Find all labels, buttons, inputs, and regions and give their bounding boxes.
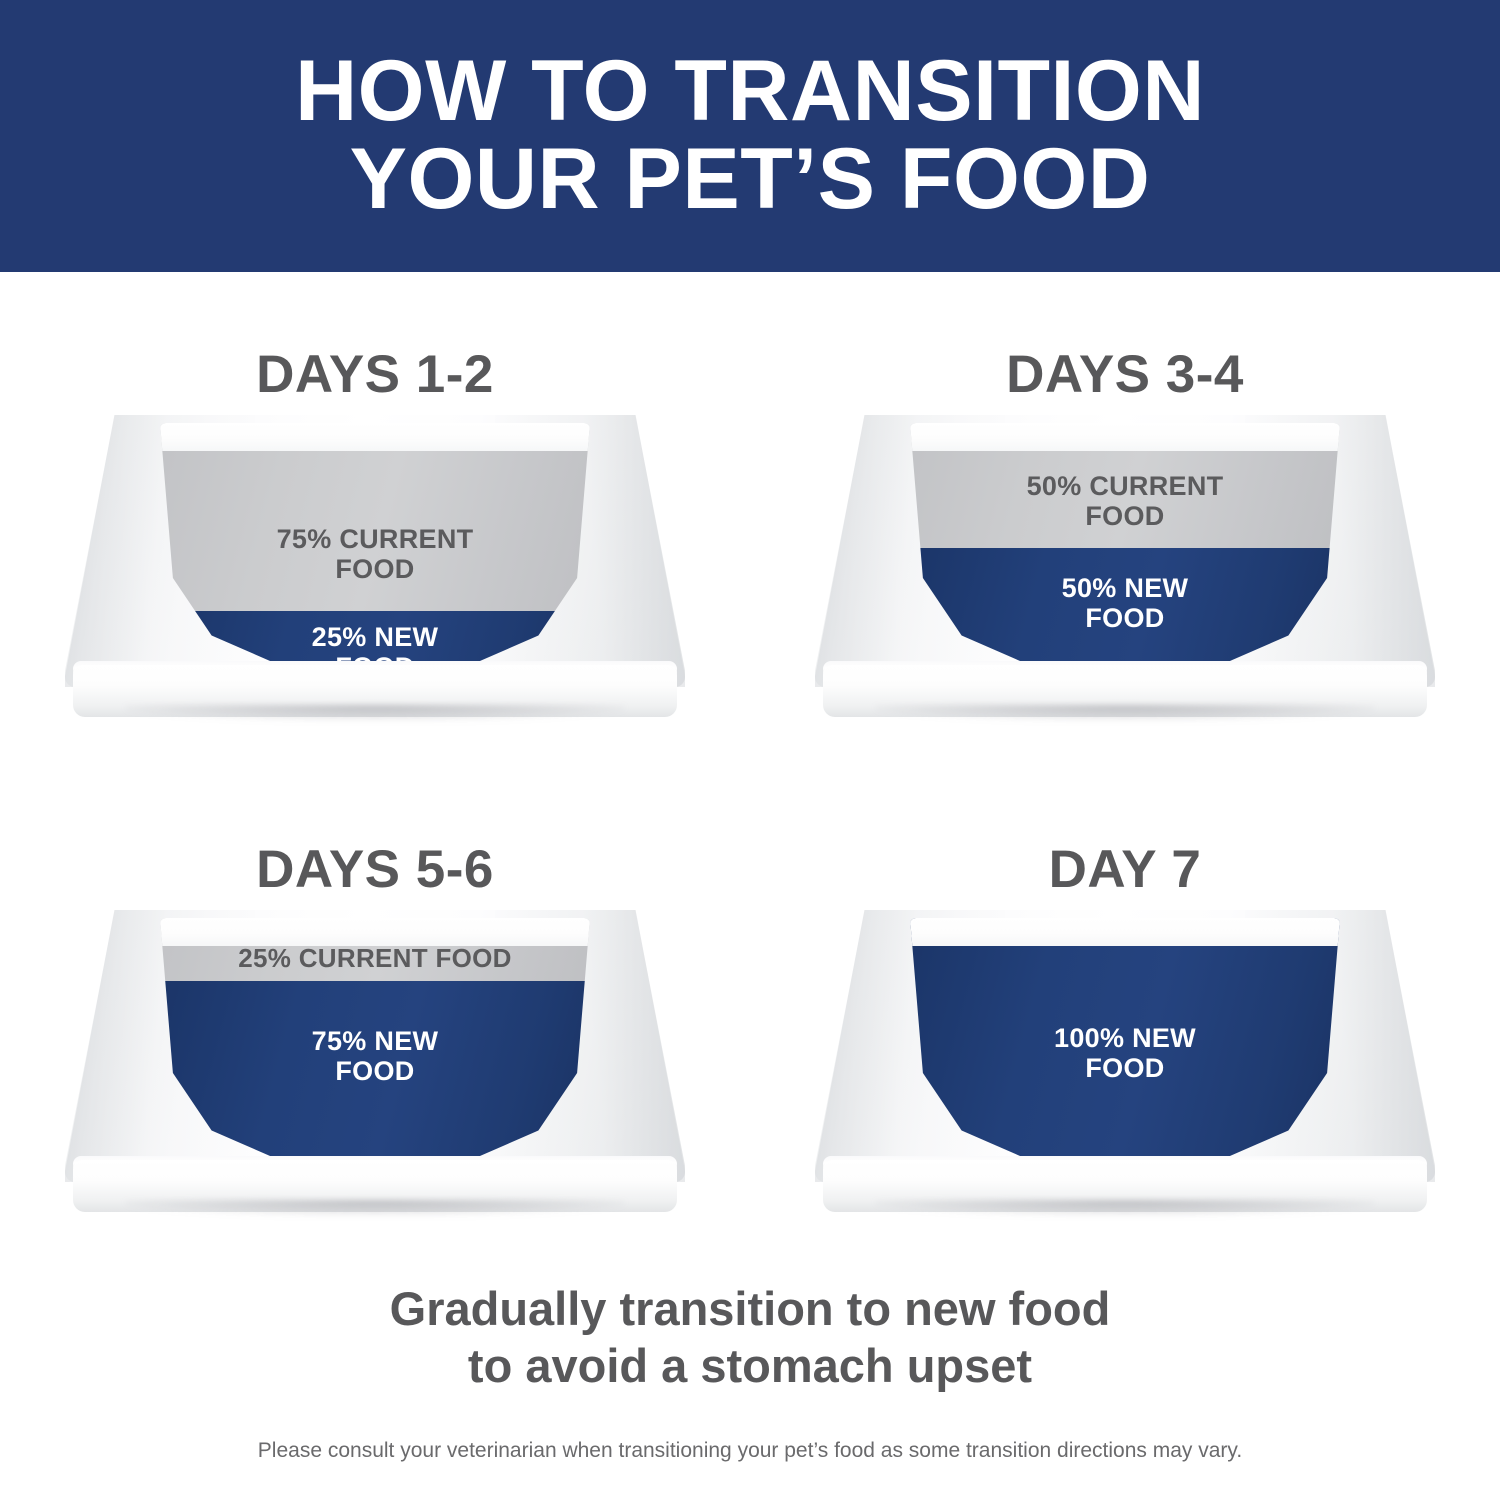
transition-step-card-1: DAYS 1-2 75% CURRENT FOOD 25% NEW FOOD: [0, 272, 750, 767]
bowl-cavity: 100% NEW FOOD: [910, 918, 1340, 1168]
transition-steps-grid: DAYS 1-2 75% CURRENT FOOD 25% NEW FOOD: [0, 272, 1500, 1262]
bowl-drop-shadow: [875, 1200, 1375, 1216]
bowl-drop-shadow: [125, 705, 625, 721]
food-stack: 75% CURRENT FOOD 25% NEW FOOD: [160, 423, 590, 673]
bowl-rim: [910, 423, 1340, 451]
footer-disclaimer: Please consult your veterinarian when tr…: [258, 1439, 1242, 1463]
bowl-cavity: 75% CURRENT FOOD 25% NEW FOOD: [160, 423, 590, 673]
food-stack: 100% NEW FOOD: [910, 918, 1340, 1168]
page-title: HOW TO TRANSITION YOUR PET’S FOOD: [295, 48, 1205, 223]
bowl-drop-shadow: [875, 705, 1375, 721]
new-food-label: 50% NEW FOOD: [910, 573, 1340, 633]
bowl-rim: [910, 918, 1340, 946]
transition-step-card-4: DAY 7 100% NEW FOOD: [750, 767, 1500, 1262]
transition-step-card-2: DAYS 3-4 50% CURRENT FOOD 50% NEW FOOD: [750, 272, 1500, 767]
bowl-rim: [160, 918, 590, 946]
pet-bowl-1: 75% CURRENT FOOD 25% NEW FOOD: [65, 415, 685, 717]
day-label-2: DAYS 3-4: [1006, 344, 1244, 405]
day-label-3: DAYS 5-6: [256, 839, 494, 900]
current-food-label: 25% CURRENT FOOD: [160, 944, 590, 973]
pet-bowl-4: 100% NEW FOOD: [815, 910, 1435, 1212]
pet-bowl-3: 25% CURRENT FOOD 75% NEW FOOD: [65, 910, 685, 1212]
page-footer: Gradually transition to new food to avoi…: [0, 1262, 1500, 1463]
pet-bowl-2: 50% CURRENT FOOD 50% NEW FOOD: [815, 415, 1435, 717]
day-label-1: DAYS 1-2: [256, 344, 494, 405]
day-label-4: DAY 7: [1049, 839, 1202, 900]
bowl-rim: [160, 423, 590, 451]
bowl-drop-shadow: [125, 1200, 625, 1216]
bowl-cavity: 25% CURRENT FOOD 75% NEW FOOD: [160, 918, 590, 1168]
bowl-cavity: 50% CURRENT FOOD 50% NEW FOOD: [910, 423, 1340, 673]
current-food-label: 75% CURRENT FOOD: [160, 524, 590, 584]
footer-headline: Gradually transition to new food to avoi…: [390, 1280, 1111, 1395]
current-food-label: 50% CURRENT FOOD: [910, 471, 1340, 531]
page-header: HOW TO TRANSITION YOUR PET’S FOOD: [0, 0, 1500, 272]
page-title-line-1: HOW TO TRANSITION: [295, 43, 1205, 139]
new-food-label: 100% NEW FOOD: [910, 1023, 1340, 1083]
current-food-portion: 75% CURRENT FOOD: [160, 423, 590, 611]
transition-step-card-3: DAYS 5-6 25% CURRENT FOOD 75% NEW FOOD: [0, 767, 750, 1262]
food-stack: 50% CURRENT FOOD 50% NEW FOOD: [910, 423, 1340, 673]
food-stack: 25% CURRENT FOOD 75% NEW FOOD: [160, 918, 590, 1168]
new-food-label: 75% NEW FOOD: [160, 1026, 590, 1086]
page-title-line-2: YOUR PET’S FOOD: [295, 136, 1205, 224]
new-food-portion: 100% NEW FOOD: [910, 918, 1340, 1168]
